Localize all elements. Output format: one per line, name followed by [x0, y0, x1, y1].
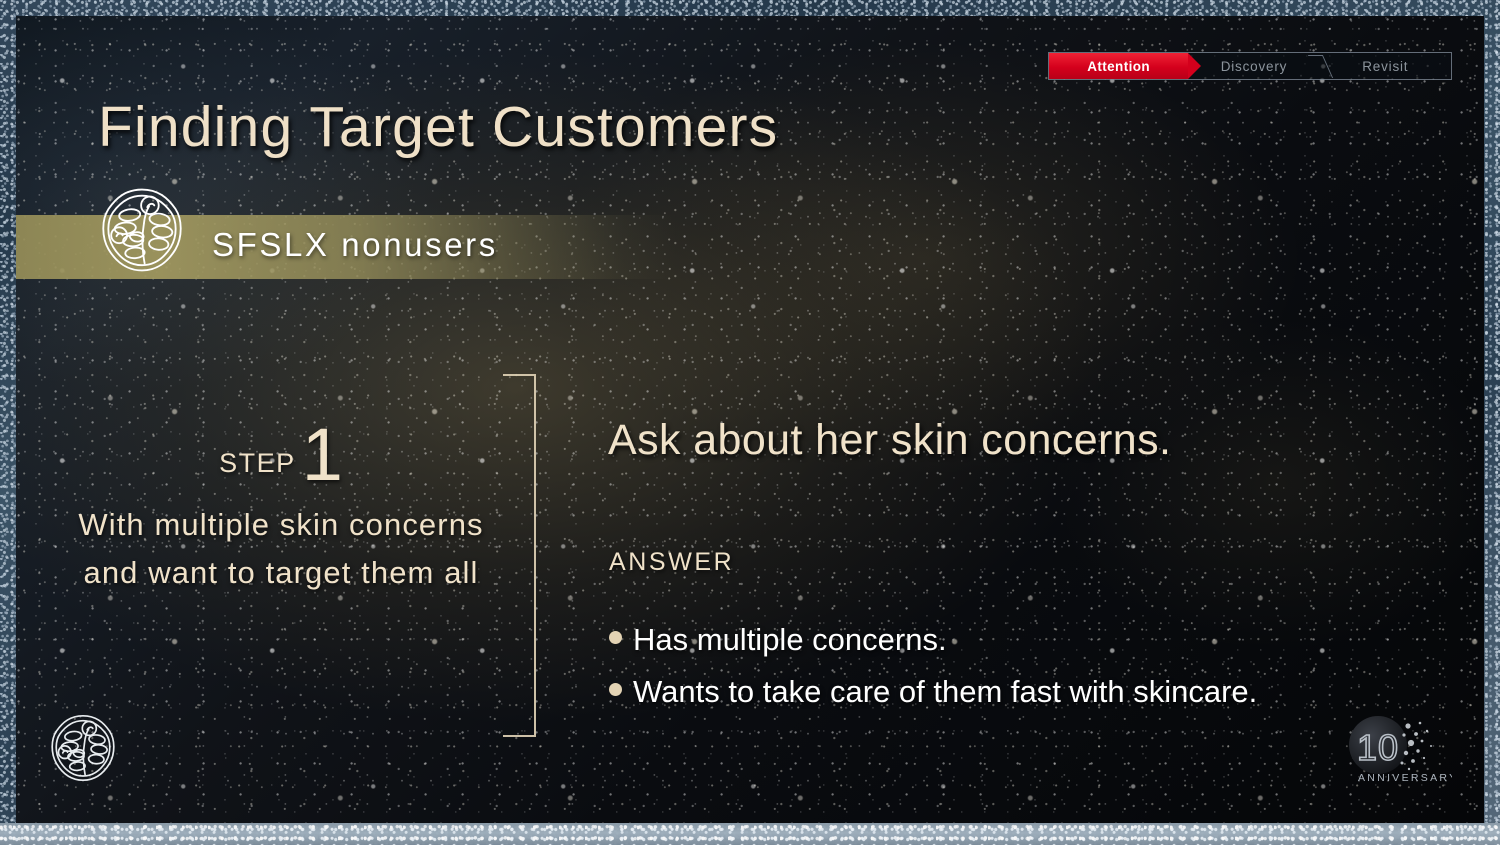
- step-word-label: STEP: [219, 448, 296, 479]
- content-heading: Ask about her skin concerns.: [608, 416, 1171, 465]
- answer-list: Has multiple concerns. Wants to take car…: [609, 622, 1449, 726]
- slide-canvas: Attention Discovery Revisit Finding Targ…: [16, 16, 1484, 823]
- stage-tab-attention[interactable]: Attention: [1049, 53, 1188, 79]
- step-column: STEP 1 With multiple skin concerns and w…: [71, 416, 491, 598]
- svg-text:10: 10: [1357, 727, 1399, 768]
- list-item-text: Has multiple concerns.: [633, 622, 947, 658]
- stage-tab-attention-label: Attention: [1087, 59, 1150, 74]
- slide-title: Finding Target Customers: [98, 94, 778, 160]
- stage-tab-revisit-label: Revisit: [1362, 59, 1408, 74]
- stage-tab-discovery[interactable]: Discovery: [1188, 53, 1319, 79]
- list-item: Has multiple concerns.: [609, 622, 1449, 658]
- step-description: With multiple skin concerns and want to …: [71, 501, 491, 598]
- list-item-text: Wants to take care of them fast with ski…: [633, 674, 1257, 710]
- answer-section-label: ANSWER: [609, 548, 734, 577]
- segment-label: SFSLX nonusers: [212, 226, 498, 264]
- bullet-dot-icon: [609, 683, 622, 696]
- anniversary-logo: 10 ANNIVERSARY: [1332, 713, 1452, 791]
- flower-crest-icon: [98, 186, 186, 274]
- list-item: Wants to take care of them fast with ski…: [609, 674, 1449, 710]
- anniversary-label: ANNIVERSARY: [1358, 772, 1452, 784]
- flower-crest-icon: [48, 713, 118, 783]
- stage-tab-revisit[interactable]: Revisit: [1320, 53, 1451, 79]
- presentation-slide: Attention Discovery Revisit Finding Targ…: [0, 0, 1500, 845]
- bracket-divider: [503, 374, 536, 737]
- stage-tab-discovery-label: Discovery: [1221, 59, 1287, 74]
- step-number: 1: [302, 424, 343, 487]
- step-heading: STEP 1: [71, 416, 491, 479]
- bullet-dot-icon: [609, 631, 622, 644]
- stage-progress-nav[interactable]: Attention Discovery Revisit: [1048, 52, 1452, 80]
